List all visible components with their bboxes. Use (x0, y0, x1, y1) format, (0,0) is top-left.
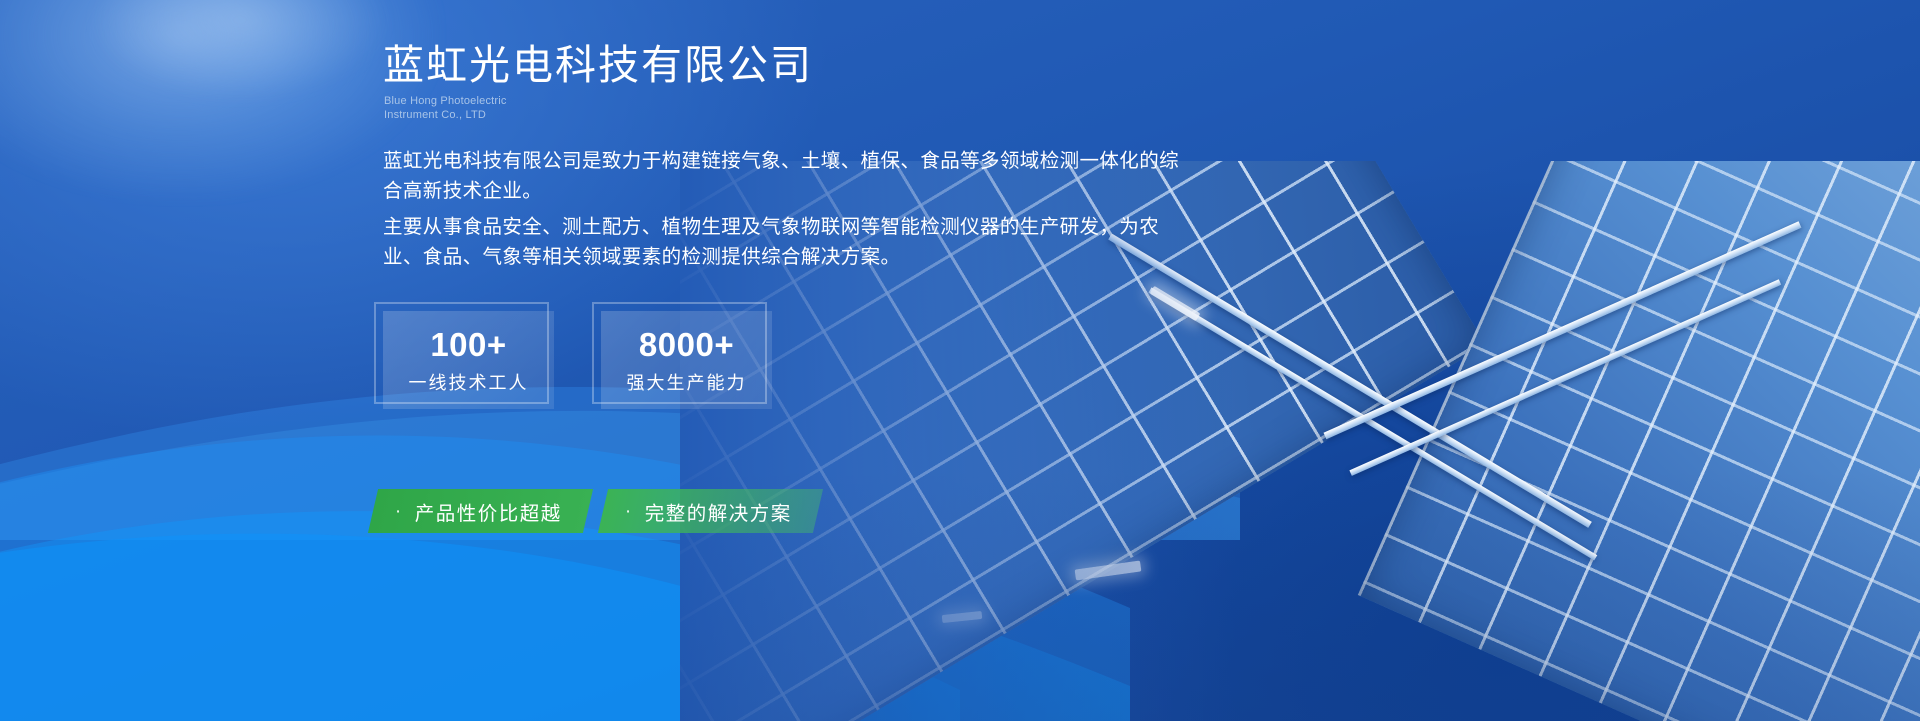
feature-tag-label: 完整的解决方案 (645, 497, 792, 526)
stat-label: 强大生产能力 (627, 374, 747, 392)
stat-value: 100+ (430, 328, 506, 361)
feature-tag-value[interactable]: · 产品性价比超越 (368, 489, 593, 533)
subtitle-line-2: Instrument Co., LTD (384, 108, 507, 122)
stat-card-workers: 100+ 一线技术工人 (383, 311, 554, 409)
company-subtitle-english: Blue Hong Photoelectric Instrument Co., … (384, 94, 507, 122)
feature-tag-group: · 产品性价比超越 · 完整的解决方案 (373, 489, 818, 533)
banner-content: 蓝虹光电科技有限公司 Blue Hong Photoelectric Instr… (383, 0, 1583, 721)
page-title: 蓝虹光电科技有限公司 (383, 42, 813, 89)
company-hero-banner: 蓝虹光电科技有限公司 Blue Hong Photoelectric Instr… (0, 0, 1920, 721)
intro-paragraph-2: 主要从事食品安全、测土配方、植物生理及气象物联网等智能检测仪器的生产研发，为农业… (383, 212, 1183, 272)
subtitle-line-1: Blue Hong Photoelectric (384, 94, 507, 108)
feature-tag-solution[interactable]: · 完整的解决方案 (598, 489, 823, 533)
stat-card-group: 100+ 一线技术工人 8000+ 强大生产能力 (383, 311, 772, 409)
bullet-dot-icon: · (625, 502, 633, 521)
stat-card-capacity: 8000+ 强大生产能力 (601, 311, 772, 409)
intro-paragraph-1: 蓝虹光电科技有限公司是致力于构建链接气象、土壤、植保、食品等多领域检测一体化的综… (383, 146, 1183, 206)
stat-label: 一线技术工人 (409, 374, 529, 392)
bullet-dot-icon: · (395, 502, 403, 521)
feature-tag-label: 产品性价比超越 (415, 497, 562, 526)
cloud-glow-secondary (90, 0, 390, 100)
stat-value: 8000+ (639, 328, 734, 361)
